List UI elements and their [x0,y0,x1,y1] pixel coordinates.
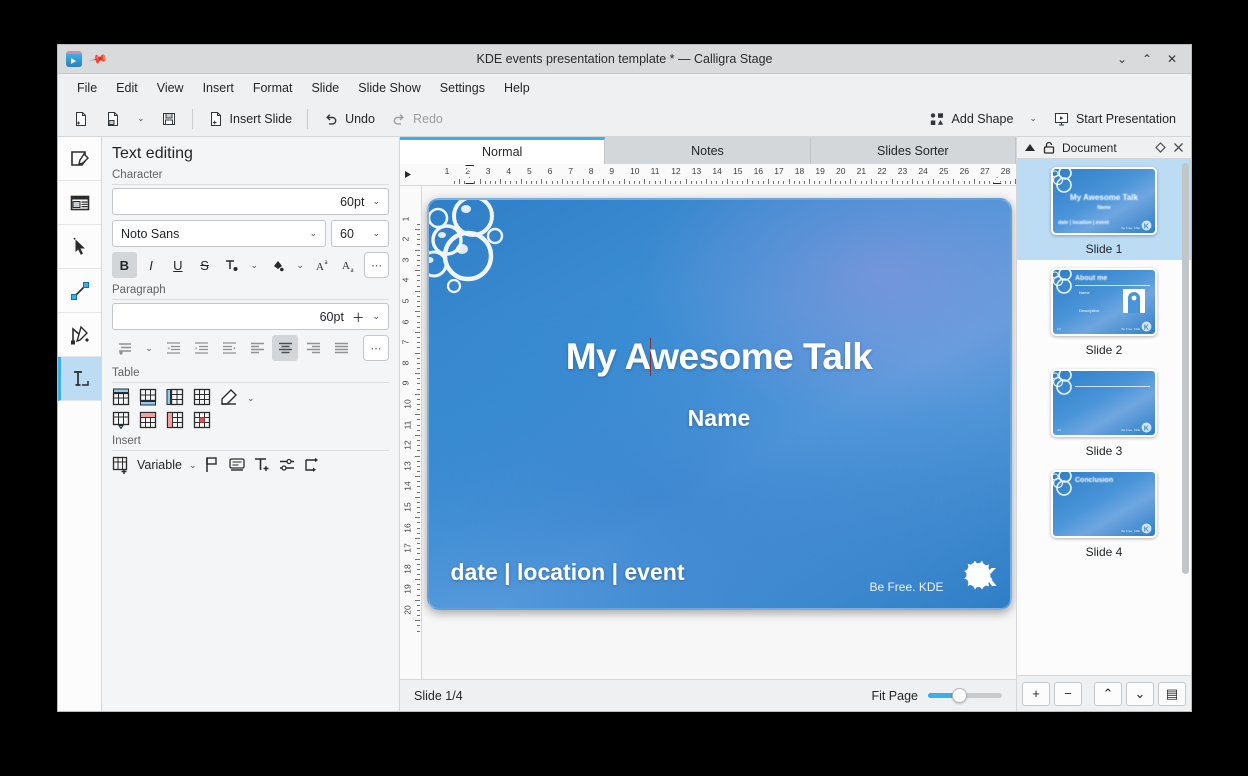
ruler-tick [577,181,578,184]
ruler-tick [417,522,420,523]
slide-subtitle-text[interactable]: Name [429,405,1010,432]
tab-normal[interactable]: Normal [400,137,605,164]
vertical-ruler-scale: 1234567891011121314151617181920 [400,186,421,679]
ruler-tick [701,181,702,184]
thumb-line-1: Name [1079,290,1090,295]
docker-title: Text editing [112,145,389,163]
ruler-tick [417,399,420,400]
ruler-tick-label: 23 [898,166,907,176]
insert-slide-button[interactable]: Insert Slide [201,107,300,131]
kde-logo-icon: K [1141,422,1152,433]
ruler-tick [691,181,692,184]
bold-button[interactable]: B [112,252,137,278]
ruler-tick-label: 14 [403,482,413,491]
plus-icon: ＋ [352,307,365,326]
window-controls: ⌄ ⌃ ✕ [1111,48,1191,70]
ruler-tick [415,579,420,580]
text-tool-icon[interactable] [58,357,101,401]
toolbar-separator-2 [307,109,308,129]
ruler-tick [706,179,707,184]
menu-view[interactable]: View [148,77,193,99]
delete-row-icon[interactable] [139,411,157,429]
start-presentation-label: Start Presentation [1076,112,1176,126]
menu-slide-show[interactable]: Slide Show [349,77,430,99]
pin-icon[interactable]: 📌 [88,49,108,69]
chevron-down-icon: ⌄ [372,311,380,322]
lock-docker-icon[interactable] [1043,141,1055,154]
font-family-combo[interactable]: Noto Sans ⌄ [112,220,326,247]
align-left-button[interactable] [244,335,270,361]
svg-text:K: K [977,562,996,592]
ruler-tick [758,181,759,184]
ruler-tick [415,435,420,436]
underline-button[interactable]: U [165,252,190,278]
ruler-tick [417,389,420,390]
slide-label: Slide 2 [1086,343,1123,357]
ruler-tick [969,181,970,184]
ruler-tick [417,316,420,317]
ruler-tick [845,181,846,184]
insert-column-left-icon[interactable] [166,388,184,406]
ruler-tick-label: 19 [815,166,824,176]
ruler-tick [417,409,420,410]
tool-options-docker: Text editing Character 60pt ⌄ Noto Sans … [102,137,400,711]
text-direction-icon[interactable] [303,456,321,474]
slide-list-scrollbar[interactable] [1182,163,1189,671]
insert-slide-label: Insert Slide [230,112,293,126]
insert-variable-label[interactable]: Variable [137,458,182,472]
menu-format[interactable]: Format [244,77,302,99]
ruler-tick [670,181,671,184]
ruler-tick [716,181,717,184]
slide-label: Slide 3 [1086,444,1123,458]
ruler-tick [500,179,501,184]
ruler-tick [747,179,748,184]
ruler-tick [696,181,697,184]
bubbles-decoration-icon [1051,470,1084,503]
ruler-tick [783,181,784,184]
ruler-tick [417,543,420,544]
ruler-tick [619,181,620,184]
ruler-tick [665,179,666,184]
variable-dropdown-icon[interactable]: ⌄ [189,460,197,471]
ruler-tick [415,311,420,312]
ruler-tick-label: 18 [403,564,413,573]
font-family-value: Noto Sans [121,227,179,241]
ruler-tick-label: 1 [400,216,410,221]
ruler-tick [505,181,506,184]
table-row-2 [112,411,389,429]
ruler-tick-label: 6 [548,166,553,176]
ruler-tick [1005,181,1006,184]
ruler-tick [417,368,420,369]
thumb-tagline: Be Free. KDE [1121,529,1140,533]
slide-label: Slide 1 [1086,242,1123,256]
svg-text:a: a [351,266,355,273]
ruler-tick [417,461,420,462]
subscript-button[interactable]: Aa [337,252,362,278]
ruler-tick [680,181,681,184]
slides-layout-tool-icon[interactable] [58,181,101,225]
ruler-tick-label: 19 [403,585,413,594]
collapse-docker-icon[interactable] [1024,142,1036,154]
toolbar-separator [192,109,193,129]
chevron-down-icon: ⌄ [145,343,153,354]
ruler-tick [417,553,420,554]
ruler-tick [415,559,420,560]
ruler-tick [417,584,420,585]
slide-title-text[interactable]: My Awesome Talk [429,336,1010,378]
line-spacing-value: 60pt [320,310,344,324]
rtl-indent-button[interactable] [216,335,242,361]
table-border-pen-icon[interactable] [220,388,238,406]
calligra-stage-icon [66,51,82,67]
svg-text:K: K [1144,525,1150,533]
slide-list-item[interactable]: Conclusion Be Free. KDE K Slide 4 [1017,462,1191,563]
ruler-tick-label: 5 [527,166,532,176]
close-docker-icon[interactable] [1173,142,1184,153]
ruler-tick [686,179,687,184]
new-document-button[interactable] [66,107,96,131]
ruler-tick [415,538,420,539]
default-select-tool-icon[interactable] [58,225,101,269]
horizontal-ruler[interactable]: 1234567891011121314151617181920212223242… [400,164,1016,186]
chevron-down-icon: ⌄ [247,393,255,403]
ruler-tick [557,181,558,184]
line-spacing-combo[interactable]: 60pt ＋ ⌄ [112,303,389,330]
character-format-buttons: B I U S ⌄ ⌄ Aa Aa ⋯ [112,252,389,278]
slide-view-options-button[interactable]: ▤ [1158,682,1186,706]
ruler-tick-label: 5 [400,299,410,304]
slide-footer-text[interactable]: date | location | event [451,559,685,586]
thumb-page-number: 2/4 [1057,327,1061,331]
scrollbar-thumb[interactable] [1182,163,1189,574]
path-edit-tool-icon[interactable] [58,313,101,357]
ruler-tick [953,179,954,184]
ruler-tick [417,502,420,503]
menu-insert[interactable]: Insert [194,77,243,99]
ruler-tick-label: 11 [402,420,412,429]
decrease-indent-button[interactable] [160,335,186,361]
chevron-down-icon: ⌄ [296,260,304,271]
font-size-pt-value: 60pt [340,195,364,209]
ruler-tick [825,181,826,184]
thumb-tagline: Be Free. KDE [1121,428,1140,432]
slide-thumbnail[interactable]: Conclusion Be Free. KDE K [1051,470,1157,538]
ruler-tick [830,179,831,184]
slide-thumbnail[interactable]: My Awesome Talk Name date | location | e… [1051,167,1157,235]
slide-list-item[interactable]: My Awesome Talk Name date | location | e… [1017,159,1191,260]
open-document-button[interactable] [98,107,128,131]
menu-edit[interactable]: Edit [107,77,147,99]
indent-marker-bottom[interactable] [465,177,474,184]
ruler-tick [866,181,867,184]
ruler-tick [588,181,589,184]
ruler-tick-label: 11 [651,166,660,176]
ruler-tick [417,301,420,302]
ruler-tick [417,569,420,570]
insert-bookmark-icon[interactable] [203,456,221,474]
chevron-down-icon: ⌄ [250,260,258,271]
ruler-tick [417,445,420,446]
ruler-tick [861,181,862,184]
slide-list-toolbar: + − ⌃ ⌄ ▤ [1017,675,1191,711]
ruler-tick [835,181,836,184]
add-shape-button[interactable]: Add Shape [922,107,1021,131]
ruler-tick [562,179,563,184]
horizontal-ruler-scale: 1234567891011121314151617181920212223242… [416,164,1016,185]
ruler-tick-label: 3 [400,257,410,262]
ruler-tick [984,181,985,184]
ruler-tick [417,528,420,529]
main-toolbar: ⌄ Insert Slide Undo Redo Add Shape ⌄ Sta… [58,101,1191,137]
minimize-icon[interactable]: ⌄ [1111,48,1133,70]
align-justify-button[interactable] [328,335,354,361]
font-size-value: 60 [340,227,354,241]
slide-thumbnail[interactable]: 3/4 Be Free. KDE K [1051,369,1157,437]
list-style-button[interactable] [112,335,138,361]
ruler-corner-icon [400,164,416,185]
ruler-tick-label: 1 [445,166,450,176]
ruler-tick [608,181,609,184]
slide-tagline-text[interactable]: Be Free. KDE [869,580,943,594]
thumb-tagline: Be Free. KDE [1121,327,1140,331]
remove-slide-button[interactable]: − [1054,682,1082,706]
increase-indent-button[interactable] [188,335,214,361]
menu-slide[interactable]: Slide [302,77,348,99]
highlight-color-button[interactable] [265,252,290,278]
ruler-tick [417,574,420,575]
font-row: Noto Sans ⌄ 60 ⌄ [112,220,389,247]
menu-file[interactable]: File [68,77,106,99]
insert-row-below-icon[interactable] [139,388,157,406]
ruler-tick-label: 6 [400,319,410,324]
ruler-tick [417,286,420,287]
ruler-tick [850,179,851,184]
ruler-tick [572,181,573,184]
align-right-button[interactable] [300,335,326,361]
slide-editor[interactable]: My Awesome Talk Name date | location | e… [427,198,1012,610]
ruler-tick [417,595,420,596]
ruler-tick [417,255,420,256]
table-section-label: Table [112,367,389,383]
start-presentation-button[interactable]: Start Presentation [1046,107,1183,131]
delete-table-icon[interactable] [193,411,211,429]
ruler-tick [737,181,738,184]
open-recent-dropdown[interactable]: ⌄ [130,109,152,128]
titlebar-left: 📌 [58,51,106,67]
add-shape-label: Add Shape [952,112,1014,126]
chevron-down-icon: ⌄ [372,228,380,239]
ruler-tick [417,260,420,261]
ruler-tick [964,181,965,184]
ruler-tick [417,383,420,384]
ruler-tick [922,181,923,184]
ruler-tick [464,181,465,184]
ruler-tick [415,373,420,374]
add-shape-dropdown[interactable]: ⌄ [1022,109,1044,128]
delete-column-icon[interactable] [166,411,184,429]
ruler-tick [417,533,420,534]
tab-slides-sorter[interactable]: Slides Sorter [811,137,1016,164]
ruler-tick [881,181,882,184]
maximize-icon[interactable]: ⌃ [1136,48,1158,70]
ruler-tick [752,181,753,184]
ruler-tick [415,517,420,518]
thumb-page-number: 3/4 [1057,428,1061,432]
ruler-tick [948,181,949,184]
ruler-tick [989,181,990,184]
chevron-down-icon: ⌄ [309,228,317,239]
ruler-tick [417,337,420,338]
zoom-slider[interactable] [928,693,1002,698]
kde-logo-icon: K [1141,523,1152,534]
connection-tool-icon[interactable] [58,269,101,313]
ruler-tick [649,181,650,184]
superscript-button[interactable]: Aa [311,252,336,278]
zoom-mode-label[interactable]: Fit Page [871,689,918,703]
svg-text:A: A [316,261,324,273]
insert-special-character-icon[interactable] [228,456,246,474]
character-more-button[interactable]: ⋯ [364,252,389,278]
ruler-tick [490,181,491,184]
ruler-tick [902,181,903,184]
text-color-button[interactable] [219,252,244,278]
ruler-tick [917,181,918,184]
ruler-tick [417,239,420,240]
align-center-button[interactable] [272,335,298,361]
menu-help[interactable]: Help [495,77,539,99]
ruler-tick-label: 20 [403,605,413,614]
thumb-image-placeholder [1123,289,1145,313]
ruler-tick-label: 24 [918,166,927,176]
window-title: KDE events presentation template * — Cal… [58,52,1191,66]
insert-row-above-icon[interactable] [112,388,130,406]
ruler-tick [634,181,635,184]
ruler-tick [541,179,542,184]
ruler-tick [907,181,908,184]
insert-text-section-icon[interactable] [253,456,271,474]
ruler-tick [415,270,420,271]
ruler-tick [417,224,420,225]
font-size-pt-combo[interactable]: 60pt ⌄ [112,188,389,215]
ruler-tick [809,179,810,184]
highlight-color-dropdown[interactable]: ⌄ [292,252,309,278]
vertical-ruler[interactable]: 1234567891011121314151617181920 [400,186,422,679]
ruler-tick [521,179,522,184]
float-docker-icon[interactable] [1155,142,1166,153]
ruler-tick [974,179,975,184]
ruler-tick-label: 27 [980,166,989,176]
ruler-tick [855,181,856,184]
document-docker: Document My Awesome Talk Name [1016,137,1191,711]
thumb-line-2: Description [1079,308,1099,313]
ruler-tick [415,456,420,457]
app-body: Text editing Character 60pt ⌄ Noto Sans … [58,137,1191,711]
ruler-tick-label: 7 [400,340,410,345]
font-size-combo[interactable]: 60 ⌄ [331,220,389,247]
ruler-tick [415,332,420,333]
ruler-tick [773,181,774,184]
ruler-tick-label: 25 [939,166,948,176]
text-color-dropdown[interactable]: ⌄ [246,252,263,278]
undo-button[interactable]: Undo [316,107,382,131]
slide-list[interactable]: My Awesome Talk Name date | location | e… [1017,159,1191,675]
ruler-tick [459,179,460,184]
insert-table-icon[interactable] [112,456,130,474]
ruler-tick [417,296,420,297]
ruler-tick-label: 2 [400,237,410,242]
ruler-tick [474,181,475,184]
ruler-tick [417,466,420,467]
menu-settings[interactable]: Settings [431,77,494,99]
ruler-tick [727,179,728,184]
ruler-tick [415,476,420,477]
ruler-tick [417,378,420,379]
italic-button[interactable]: I [139,252,164,278]
paragraph-buttons: ⌄ [112,335,389,361]
list-style-dropdown[interactable]: ⌄ [140,335,158,361]
ruler-tick [768,179,769,184]
merge-cells-icon[interactable] [112,411,130,429]
ruler-tick [415,353,420,354]
ruler-tick [415,250,420,251]
chevron-down-icon-2: ⌄ [1029,113,1037,124]
ruler-tick-label: 22 [877,166,886,176]
ruler-tick-label: 13 [403,461,413,470]
table-border-dropdown[interactable]: ⌄ [247,388,259,406]
ruler-tick-label: 9 [400,381,410,386]
close-icon[interactable]: ✕ [1161,48,1183,70]
document-docker-header: Document [1017,137,1191,159]
tab-notes[interactable]: Notes [605,137,810,164]
redo-button[interactable]: Redo [384,107,450,131]
slide-list-item[interactable]: About me Name Description 2/4 Be Free. K… [1017,260,1191,361]
ruler-tick-label: 17 [774,166,783,176]
text-settings-icon[interactable] [278,456,296,474]
ruler-tick [417,605,420,606]
strikethrough-button[interactable]: S [192,252,217,278]
ruler-tick [417,492,420,493]
ruler-tick-label: 16 [403,523,413,532]
text-cursor [650,338,652,376]
svg-text:a: a [324,258,328,266]
svg-text:K: K [1144,424,1150,432]
move-slide-down-button[interactable]: ⌄ [1126,682,1154,706]
slide-canvas[interactable]: My Awesome Talk Name date | location | e… [422,186,1016,679]
zoom-slider-handle[interactable] [952,688,967,703]
ruler-tick [567,181,568,184]
add-slide-button[interactable]: + [1022,682,1050,706]
shape-handling-tool-icon[interactable] [58,137,101,181]
slide-list-item[interactable]: 3/4 Be Free. KDE K Slide 3 [1017,361,1191,462]
ruler-tick [415,497,420,498]
ruler-tick-label: 14 [712,166,721,176]
svg-text:A: A [342,260,350,272]
insert-column-right-icon[interactable] [193,388,211,406]
ruler-tick [928,181,929,184]
ruler-tick [417,306,420,307]
paragraph-more-button[interactable]: ⋯ [363,335,389,361]
move-slide-up-button[interactable]: ⌃ [1094,682,1122,706]
ruler-tick [417,234,420,235]
ruler-tick-label: 12 [671,166,680,176]
chevron-down-icon: ⌄ [372,196,380,207]
slide-thumbnail[interactable]: About me Name Description 2/4 Be Free. K… [1051,268,1157,336]
ruler-tick-label: 18 [795,166,804,176]
ruler-tick [763,181,764,184]
save-document-button[interactable] [154,107,184,131]
